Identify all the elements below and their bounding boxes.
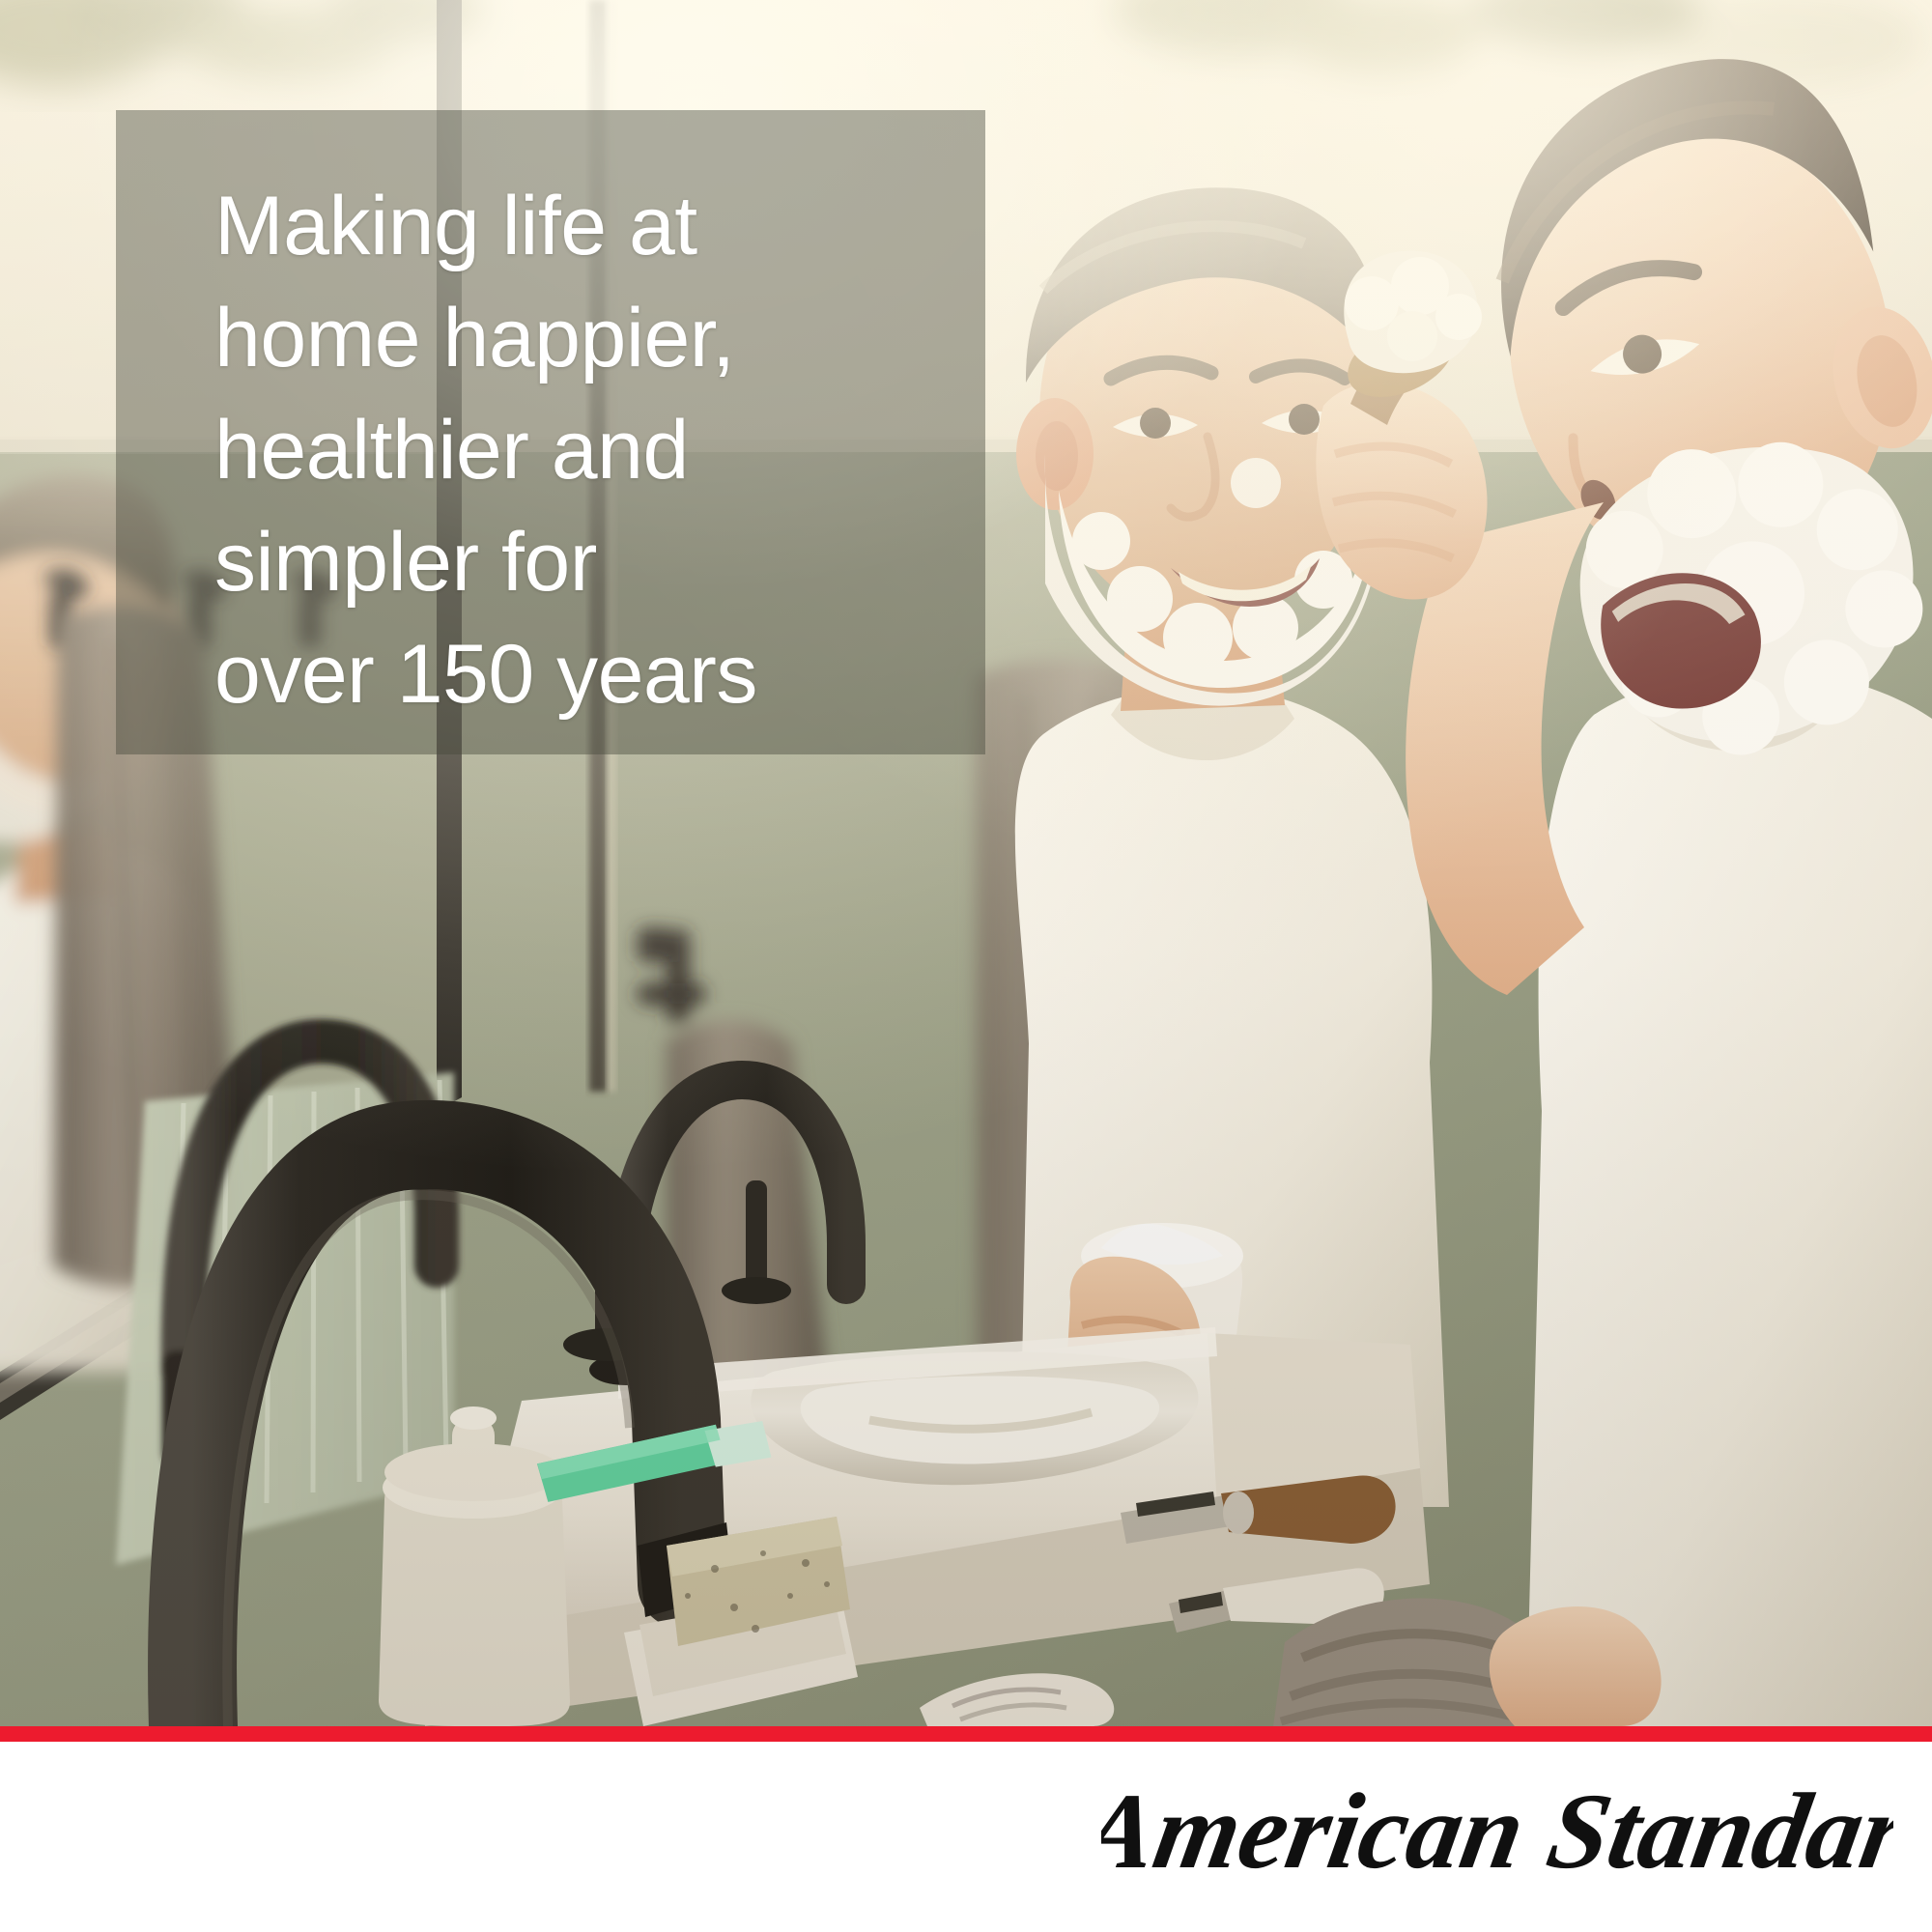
hero-photo: Making life at home happier, healthier a… xyxy=(0,0,1932,1726)
ad-creative: Making life at home happier, healthier a… xyxy=(0,0,1932,1932)
headline-overlay-box: Making life at home happier, healthier a… xyxy=(116,110,985,754)
logo-wordmark: American Standard xyxy=(1101,1772,1893,1891)
brand-red-divider xyxy=(0,1726,1932,1742)
footer-bar: American Standard xyxy=(0,1742,1932,1932)
american-standard-logo: American Standard xyxy=(1101,1759,1893,1904)
page-title: Making life at home happier, healthier a… xyxy=(214,170,947,730)
